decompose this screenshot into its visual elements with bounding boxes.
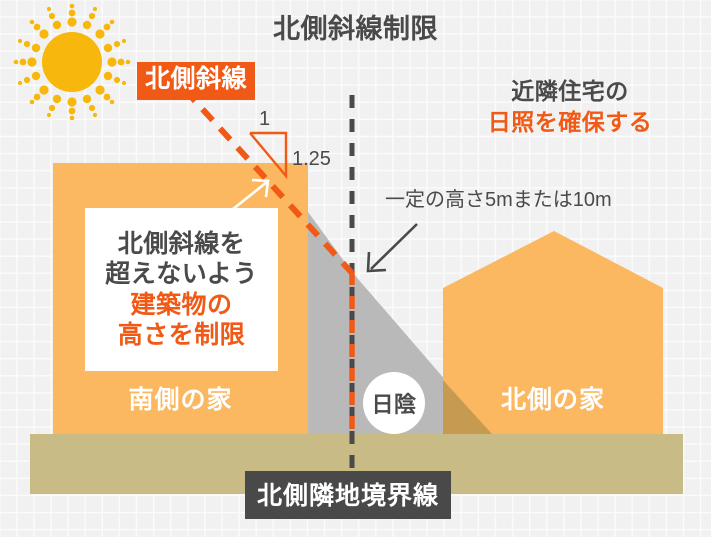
north-house-label: 北側の家 (443, 380, 663, 416)
height-threshold-label: 一定の高さ5mまたは10m (385, 189, 612, 213)
neighbor-note-line2: 日照を確保する (452, 109, 688, 136)
arrow-down-left-icon (368, 224, 417, 271)
boundary-line-banner: 北側隣地境界線 (245, 471, 451, 519)
height-restriction-callout: 北側斜線を 超えないよう 建築物の 高さを制限 (85, 208, 278, 371)
callout-line-2: 超えないよう (105, 259, 258, 290)
slope-line-badge: 北側斜線 (137, 62, 255, 100)
callout-line-4: 高さを制限 (118, 320, 246, 351)
ratio-run-label: 1 (259, 108, 270, 132)
diagram-canvas: 北側斜線制限 北側斜線 1 1.25 近隣住宅の 日照を確保する 一定の高さ5m… (0, 0, 711, 537)
shade-label: 日陰 (363, 372, 425, 434)
callout-line-3: 建築物の (130, 290, 232, 321)
neighbor-sunlight-note: 近隣住宅の 日照を確保する (452, 78, 688, 136)
callout-line-1: 北側斜線を (118, 229, 246, 260)
ratio-rise-label: 1.25 (292, 148, 331, 172)
south-house-label: 南側の家 (53, 380, 308, 416)
neighbor-note-line1: 近隣住宅の (452, 78, 688, 105)
page-title: 北側斜線制限 (0, 14, 711, 46)
